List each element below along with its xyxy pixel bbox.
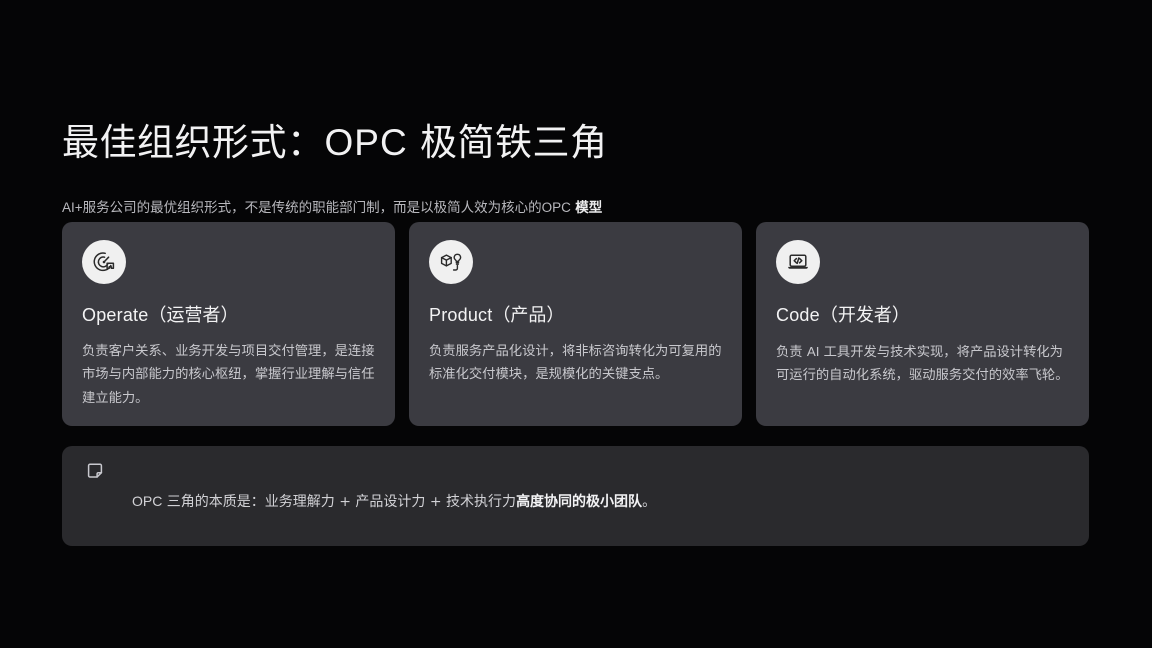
callout-text-part2: 。 xyxy=(642,494,656,510)
card-operate[interactable]: Operate（运营者） 负责客户关系、业务开发与项目交付管理，是连接市场与内部… xyxy=(62,222,395,426)
card-operate-heading-cjk: （运营者） xyxy=(148,305,238,326)
card-code-heading-latin: Code xyxy=(776,305,820,325)
card-operate-body: 负责客户关系、业务开发与项目交付管理，是连接市场与内部能力的核心枢纽，掌握行业理… xyxy=(82,340,375,411)
laptop-code-icon xyxy=(786,250,810,274)
subtitle-prefix-latin: AI+ xyxy=(62,200,83,215)
page-title: 最佳组织形式：OPC 极简铁三角 xyxy=(62,121,607,165)
card-code[interactable]: Code（开发者） 负责 AI 工具开发与技术实现，将产品设计转化为可运行的自动… xyxy=(756,222,1089,426)
card-code-body-part2: 工具开发与技术实现，将产品设计转化为可运行的自动化系统，驱动服务交付的效率飞轮。 xyxy=(776,345,1069,384)
box-lightbulb-icon xyxy=(439,250,463,274)
subtitle-opc-latin: OPC xyxy=(542,200,571,215)
card-operate-icon-badge xyxy=(82,240,126,284)
card-code-body-latin: AI xyxy=(807,344,820,359)
role-cards-row: Operate（运营者） 负责客户关系、业务开发与项目交付管理，是连接市场与内部… xyxy=(62,222,1089,426)
sticky-note-icon xyxy=(86,462,104,480)
title-suffix: 极简铁三角 xyxy=(420,121,608,164)
card-product-heading: Product（产品） xyxy=(429,305,722,327)
callout-text: OPC 三角的本质是：业务理解力 + 产品设计力 + 技术执行力高度协同的极小团… xyxy=(132,490,1067,513)
title-latin: OPC xyxy=(325,122,408,163)
card-code-heading-cjk: （开发者） xyxy=(820,305,910,326)
title-prefix: 最佳组织形式： xyxy=(62,121,325,164)
subtitle: AI+服务公司的最优组织形式，不是传统的职能部门制，而是以极简人效为核心的OPC… xyxy=(62,198,602,218)
slide-root: 最佳组织形式：OPC 极简铁三角 AI+服务公司的最优组织形式，不是传统的职能部… xyxy=(0,0,1152,648)
card-code-icon-badge xyxy=(776,240,820,284)
subtitle-emphasis: 模型 xyxy=(575,200,602,216)
callout-text-emphasis: 高度协同的极小团队 xyxy=(516,494,642,510)
callout-text-latin: OPC xyxy=(132,493,162,509)
callout-box: OPC 三角的本质是：业务理解力 + 产品设计力 + 技术执行力高度协同的极小团… xyxy=(62,446,1089,546)
target-flag-icon xyxy=(92,250,116,274)
card-code-body: 负责 AI 工具开发与技术实现，将产品设计转化为可运行的自动化系统，驱动服务交付… xyxy=(776,340,1069,388)
card-product-body: 负责服务产品化设计，将非标咨询转化为可复用的标准化交付模块，是规模化的关键支点。 xyxy=(429,340,722,387)
card-product-heading-latin: Product xyxy=(429,305,492,325)
card-product[interactable]: Product（产品） 负责服务产品化设计，将非标咨询转化为可复用的标准化交付模… xyxy=(409,222,742,426)
card-product-icon-badge xyxy=(429,240,473,284)
card-operate-heading-latin: Operate xyxy=(82,305,148,325)
subtitle-main: 服务公司的最优组织形式，不是传统的职能部门制，而是以极简人效为核心的 xyxy=(83,200,542,216)
card-operate-heading: Operate（运营者） xyxy=(82,305,375,327)
card-code-body-part1: 负责 xyxy=(776,345,807,360)
card-code-heading: Code（开发者） xyxy=(776,305,1069,327)
card-product-heading-cjk: （产品） xyxy=(492,305,564,326)
callout-text-part1: 三角的本质是：业务理解力 + 产品设计力 + 技术执行力 xyxy=(162,494,516,510)
